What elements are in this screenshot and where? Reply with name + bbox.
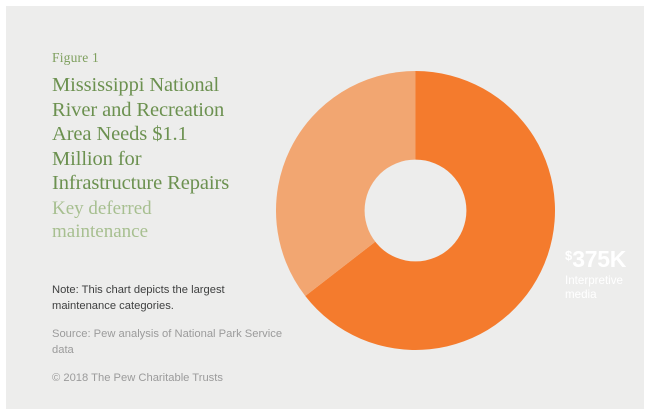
donut-chart: $375K Interpretive media $682K Buildings: [276, 71, 555, 350]
chart-copyright: © 2018 The Pew Charitable Trusts: [52, 371, 287, 387]
figure-canvas: Figure 1 Mississippi National River and …: [0, 0, 650, 415]
slice-label-interpretive-media: $375K Interpretive media: [565, 244, 637, 301]
chart-subtitle: Key deferred maintenance: [52, 197, 232, 243]
chart-title: Mississippi National River and Recreatio…: [52, 73, 242, 196]
chart-source: Source: Pew analysis of National Park Se…: [52, 327, 287, 358]
slice-amount-interpretive: 375K: [572, 246, 626, 272]
chart-note: Note: This chart depicts the largest mai…: [52, 283, 287, 314]
donut-center-hole: [365, 160, 467, 262]
slice-category-interpretive-media: Interpretive media: [565, 274, 637, 301]
footnotes-block: Note: This chart depicts the largest mai…: [52, 283, 287, 387]
donut-chart-svg: [276, 71, 555, 350]
figure-text-column: Figure 1 Mississippi National River and …: [52, 50, 292, 243]
slice-value-interpretive-media: $375K: [565, 244, 637, 271]
figure-number-label: Figure 1: [52, 50, 292, 66]
